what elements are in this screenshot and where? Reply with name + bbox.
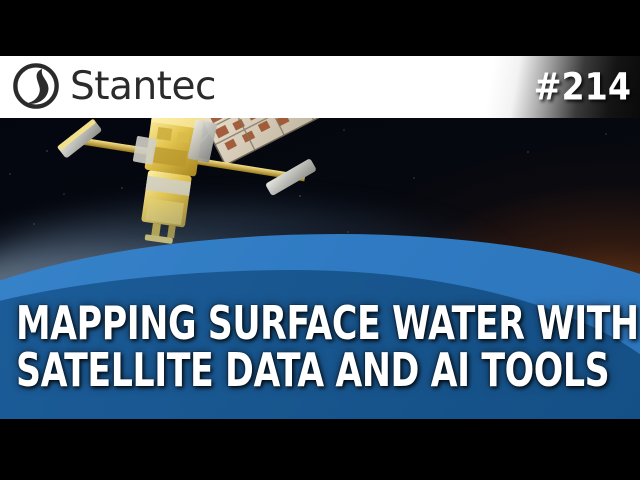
letterbox-top [0,0,640,56]
video-thumbnail: MAPPING SURFACE WATER WITH SATELLITE DAT… [0,0,640,480]
title-line-2: SATELLITE DATA AND AI TOOLS [16,347,528,394]
brand-name: Stantec [70,67,216,106]
episode-number-badge: #214 [534,69,631,106]
brand-header-band: Stantec #214 [0,56,640,118]
video-title: MAPPING SURFACE WATER WITH SATELLITE DAT… [16,300,626,394]
brand-lockup: Stantec [12,62,216,110]
title-line-1: MAPPING SURFACE WATER WITH [16,300,528,347]
letterbox-bottom [0,419,640,480]
stantec-swirl-logo-icon [12,62,60,110]
